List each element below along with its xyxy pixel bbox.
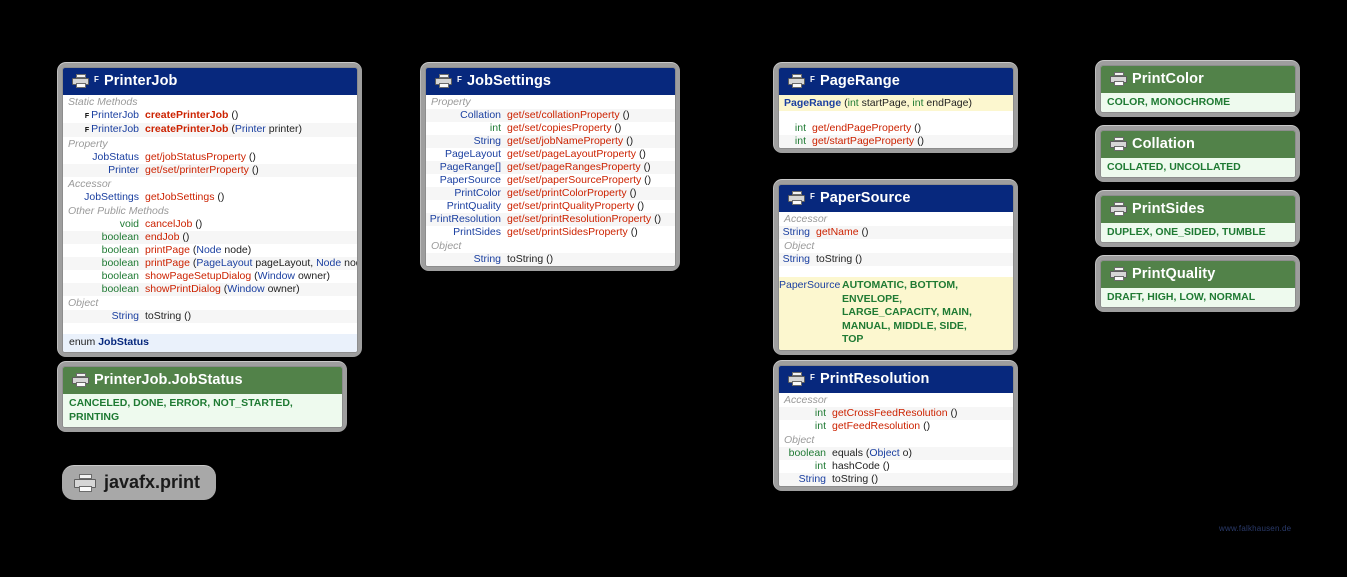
printer-icon <box>1110 137 1127 151</box>
enum-keyword: enum <box>69 336 95 348</box>
member-row[interactable]: StringtoString () <box>779 473 1013 486</box>
enum-box-collation[interactable]: Collation COLLATED, UNCOLLATED <box>1095 125 1300 182</box>
member-name: toString <box>507 253 543 265</box>
member-params: () <box>883 460 890 472</box>
class-header-job-settings: F JobSettings <box>426 68 675 95</box>
member-row[interactable]: void cancelJob () <box>63 218 357 231</box>
member-row[interactable]: boolean showPrintDialog (Window owner) <box>63 283 357 296</box>
constants-values: AUTOMATIC, BOTTOM, ENVELOPE, LARGE_CAPAC… <box>842 279 990 347</box>
member-name: get/set/printerProperty <box>145 164 249 176</box>
package-name: javafx.print <box>104 472 200 493</box>
class-header-printer-job: F PrinterJob <box>63 68 357 95</box>
return-type: boolean <box>789 447 826 460</box>
section-label: Property <box>426 95 675 109</box>
member-row[interactable]: booleanequals (Object o) <box>779 447 1013 460</box>
return-type: String <box>474 253 501 266</box>
member-params: () <box>914 122 921 134</box>
return-type: PrinterJob <box>91 123 139 136</box>
section-label: Object <box>779 239 1013 253</box>
return-type: String <box>474 135 501 148</box>
return-type: PageRange[] <box>440 161 501 174</box>
printer-icon <box>788 74 805 88</box>
final-marker: F <box>457 75 462 84</box>
enum-header: PrintColor <box>1101 66 1295 93</box>
member-name: toString <box>145 310 181 322</box>
member-row[interactable]: PaperSourceget/set/paperSourceProperty (… <box>426 174 675 187</box>
member-row[interactable]: intget/startPageProperty () <box>779 135 1013 148</box>
return-type: int <box>490 122 501 135</box>
class-name: PrinterJob <box>104 73 178 89</box>
member-params: () <box>546 253 553 265</box>
member-row[interactable]: FPrinterJob createPrinterJob () <box>63 109 357 123</box>
enum-name: PrintSides <box>1132 201 1205 217</box>
class-header-page-range: F PageRange <box>779 68 1013 95</box>
return-type: boolean <box>102 231 139 244</box>
return-type: String <box>783 253 810 266</box>
return-type: PrintResolution <box>430 213 501 226</box>
class-body: Accessor StringgetName () Object Stringt… <box>779 212 1013 350</box>
enum-name: Collation <box>1132 136 1195 152</box>
member-name: getCrossFeedResolution <box>832 407 948 419</box>
class-box-printer-job[interactable]: F PrinterJob Static Methods FPrinterJob … <box>57 62 362 357</box>
param-name: pageLayout, <box>255 257 316 269</box>
member-name: get/jobStatusProperty <box>145 151 246 163</box>
package-label[interactable]: javafx.print <box>62 465 216 500</box>
class-name: PageRange <box>820 73 900 89</box>
member-row[interactable]: intget/set/copiesProperty () <box>426 122 675 135</box>
member-name: equals <box>832 447 863 459</box>
section-label: Accessor <box>779 393 1013 407</box>
member-params: () <box>182 231 189 243</box>
section-label: Object <box>426 239 675 253</box>
param-name: node) <box>224 244 251 256</box>
return-type: PageLayout <box>445 148 501 161</box>
member-name: get/set/printQualityProperty <box>507 200 634 212</box>
member-name: getName <box>816 226 859 238</box>
member-params: () <box>644 161 651 173</box>
return-type: int <box>815 460 826 473</box>
return-type: String <box>112 310 139 323</box>
diagram-canvas: F PrinterJob Static Methods FPrinterJob … <box>0 0 1347 577</box>
member-row[interactable]: PrintSidesget/set/printSidesProperty () <box>426 226 675 239</box>
enum-box-print-sides[interactable]: PrintSides DUPLEX, ONE_SIDED, TUMBLE <box>1095 190 1300 247</box>
member-params: () <box>855 253 862 265</box>
class-box-print-resolution[interactable]: F PrintResolution Accessor intgetCrossFe… <box>773 360 1018 491</box>
member-name: get/set/printResolutionProperty <box>507 213 651 225</box>
member-params: () <box>923 420 930 432</box>
member-params: () <box>917 135 924 147</box>
member-row[interactable]: intgetCrossFeedResolution () <box>779 407 1013 420</box>
printer-icon <box>788 191 805 205</box>
member-name: hashCode <box>832 460 880 472</box>
enum-header: Collation <box>1101 131 1295 158</box>
member-row[interactable]: intget/endPageProperty () <box>779 122 1013 135</box>
spacer <box>779 266 1013 277</box>
class-name: PrintResolution <box>820 371 929 387</box>
member-name: get/set/printSidesProperty <box>507 226 628 238</box>
enum-constants: DUPLEX, ONE_SIDED, TUMBLE <box>1101 223 1295 242</box>
final-marker: F <box>85 110 89 123</box>
enum-header: PrintSides <box>1101 196 1295 223</box>
member-params: () <box>631 226 638 238</box>
param-type: Object <box>869 447 899 459</box>
member-params: () <box>626 135 633 147</box>
member-params: () <box>252 164 259 176</box>
member-row[interactable]: boolean printPage (PageLayout pageLayout… <box>63 257 357 270</box>
member-row[interactable]: Stringget/set/jobNameProperty () <box>426 135 675 148</box>
param-name: o) <box>903 447 912 459</box>
param-name: printer) <box>269 123 302 135</box>
member-name: get/set/printColorProperty <box>507 187 627 199</box>
enum-box-print-quality[interactable]: PrintQuality DRAFT, HIGH, LOW, NORMAL <box>1095 255 1300 312</box>
printer-icon <box>788 372 805 386</box>
return-type: Printer <box>108 164 139 177</box>
final-marker: F <box>94 75 99 84</box>
class-box-job-settings[interactable]: F JobSettings Property Collationget/set/… <box>420 62 680 271</box>
member-name: get/endPageProperty <box>812 122 911 134</box>
class-header-print-resolution: F PrintResolution <box>779 366 1013 393</box>
class-box-paper-source[interactable]: F PaperSource Accessor StringgetName () … <box>773 179 1018 355</box>
class-name: PaperSource <box>820 190 911 206</box>
return-type: String <box>799 473 826 486</box>
member-params: () <box>217 191 224 203</box>
member-name: cancelJob <box>145 218 192 230</box>
member-row[interactable]: JobStatus get/jobStatusProperty () <box>63 151 357 164</box>
member-row[interactable]: JobSettings getJobSettings () <box>63 191 357 204</box>
return-type: JobStatus <box>92 151 139 164</box>
return-type: boolean <box>102 257 139 270</box>
param-type: PageLayout <box>196 257 252 269</box>
member-name: endJob <box>145 231 179 243</box>
printer-icon <box>74 474 96 492</box>
enum-constants: CANCELED, DONE, ERROR, NOT_STARTED, PRIN… <box>63 394 342 427</box>
constructor-name: PageRange <box>784 97 841 109</box>
final-marker: F <box>810 192 815 201</box>
member-params: () <box>614 122 621 134</box>
param-name: owner) <box>298 270 330 282</box>
member-row[interactable]: StringgetName () <box>779 226 1013 239</box>
return-type: String <box>783 226 810 239</box>
member-name: get/set/pageRangesProperty <box>507 161 641 173</box>
return-type: PrintColor <box>454 187 501 200</box>
enum-box-print-color[interactable]: PrintColor COLOR, MONOCHROME <box>1095 60 1300 117</box>
class-body: Accessor intgetCrossFeedResolution () in… <box>779 393 1013 486</box>
member-row[interactable]: PrintQualityget/set/printQualityProperty… <box>426 200 675 213</box>
member-row[interactable]: StringtoString () <box>779 253 1013 266</box>
member-name: createPrinterJob <box>145 123 228 135</box>
class-header-paper-source: F PaperSource <box>779 185 1013 212</box>
member-row[interactable]: boolean printPage (Node node) <box>63 244 357 257</box>
spacer <box>779 111 1013 122</box>
printer-icon <box>1110 72 1127 86</box>
final-marker: F <box>85 124 89 137</box>
return-type: Collation <box>460 109 501 122</box>
member-row[interactable]: inthashCode () <box>779 460 1013 473</box>
printer-icon <box>72 373 89 387</box>
section-label: Static Methods <box>63 95 357 109</box>
member-row[interactable]: boolean showPageSetupDialog (Window owne… <box>63 270 357 283</box>
param-type: Window <box>227 283 264 295</box>
return-type: int <box>815 420 826 433</box>
member-name: toString <box>816 253 852 265</box>
member-name: get/set/jobNameProperty <box>507 135 623 147</box>
section-label: Object <box>779 433 1013 447</box>
member-row[interactable]: FPrinterJob createPrinterJob (Printer pr… <box>63 123 357 137</box>
class-name: JobSettings <box>467 73 551 89</box>
constants-type: PaperSource <box>779 279 840 291</box>
final-marker: F <box>810 75 815 84</box>
member-params: () <box>950 407 957 419</box>
member-row[interactable]: Printer get/set/printerProperty () <box>63 164 357 177</box>
member-name: showPageSetupDialog <box>145 270 251 282</box>
spacer <box>63 323 357 334</box>
enum-box-printer-job-job-status[interactable]: PrinterJob.JobStatus CANCELED, DONE, ERR… <box>57 361 347 432</box>
return-type: PrintQuality <box>447 200 501 213</box>
member-row[interactable]: StringtoString () <box>426 253 675 266</box>
member-params: () <box>184 310 191 322</box>
param-name: node) <box>344 257 358 269</box>
param-type: Node <box>196 244 221 256</box>
return-type: JobSettings <box>84 191 139 204</box>
printer-icon <box>435 74 452 88</box>
member-params: () <box>871 473 878 485</box>
member-params: () <box>639 148 646 160</box>
final-marker: F <box>810 373 815 382</box>
return-type: void <box>120 218 139 231</box>
return-type: boolean <box>102 244 139 257</box>
param-type: int <box>848 97 859 109</box>
member-params: () <box>195 218 202 230</box>
enum-name: PrintQuality <box>1132 266 1215 282</box>
member-params: () <box>654 213 661 225</box>
member-row[interactable]: PrintColorget/set/printColorProperty () <box>426 187 675 200</box>
member-name: getFeedResolution <box>832 420 920 432</box>
enum-name: PrinterJob.JobStatus <box>94 372 243 388</box>
member-name: get/startPageProperty <box>812 135 914 147</box>
member-row[interactable]: boolean endJob () <box>63 231 357 244</box>
member-row[interactable]: PageLayoutget/set/pageLayoutProperty () <box>426 148 675 161</box>
nested-enum-row[interactable]: enum JobStatus <box>63 334 357 352</box>
printer-icon <box>1110 267 1127 281</box>
section-label: Property <box>63 137 357 151</box>
printer-icon <box>72 74 89 88</box>
return-type: int <box>795 135 806 148</box>
param-type: Printer <box>235 123 266 135</box>
class-box-page-range[interactable]: F PageRange PageRange (int startPage, in… <box>773 62 1018 153</box>
param-name: startPage, <box>862 97 913 109</box>
member-name: get/set/paperSourceProperty <box>507 174 641 186</box>
param-name: owner) <box>268 283 300 295</box>
member-name: get/set/copiesProperty <box>507 122 611 134</box>
member-params: () <box>249 151 256 163</box>
watermark: www.falkhausen.de <box>1219 524 1291 533</box>
return-type: boolean <box>102 283 139 296</box>
class-body: PageRange (int startPage, int endPage) i… <box>779 95 1013 148</box>
return-type: int <box>795 122 806 135</box>
constants-row[interactable]: PaperSource AUTOMATIC, BOTTOM, ENVELOPE,… <box>779 277 1013 350</box>
constructor-row[interactable]: PageRange (int startPage, int endPage) <box>779 95 1013 111</box>
member-name: get/set/collationProperty <box>507 109 620 121</box>
return-type: PrintSides <box>453 226 501 239</box>
section-label: Other Public Methods <box>63 204 357 218</box>
enum-header: PrinterJob.JobStatus <box>63 367 342 394</box>
member-name: toString <box>832 473 868 485</box>
return-type: int <box>815 407 826 420</box>
member-params: () <box>637 200 644 212</box>
member-row[interactable]: PageRange[]get/set/pageRangesProperty () <box>426 161 675 174</box>
enum-constants: COLOR, MONOCHROME <box>1101 93 1295 112</box>
member-row[interactable]: PrintResolutionget/set/printResolutionPr… <box>426 213 675 226</box>
class-body: Property Collationget/set/collationPrope… <box>426 95 675 266</box>
return-type: PaperSource <box>440 174 501 187</box>
param-name: endPage) <box>926 97 972 109</box>
class-body: Static Methods FPrinterJob createPrinter… <box>63 95 357 352</box>
member-name: printPage <box>145 244 190 256</box>
enum-constants: DRAFT, HIGH, LOW, NORMAL <box>1101 288 1295 307</box>
member-row[interactable]: String toString () <box>63 310 357 323</box>
enum-header: PrintQuality <box>1101 261 1295 288</box>
member-row[interactable]: intgetFeedResolution () <box>779 420 1013 433</box>
enum-name: JobStatus <box>98 336 149 348</box>
section-label: Accessor <box>779 212 1013 226</box>
member-name: showPrintDialog <box>145 283 221 295</box>
member-name: createPrinterJob <box>145 109 228 121</box>
param-type: Window <box>258 270 295 282</box>
member-params: () <box>862 226 869 238</box>
member-params: () <box>644 174 651 186</box>
section-label: Object <box>63 296 357 310</box>
member-name: printPage <box>145 257 190 269</box>
member-name: get/set/pageLayoutProperty <box>507 148 636 160</box>
return-type: boolean <box>102 270 139 283</box>
member-params: () <box>623 109 630 121</box>
param-type: int <box>912 97 923 109</box>
member-params: () <box>630 187 637 199</box>
return-type: PrinterJob <box>91 109 139 122</box>
section-label: Accessor <box>63 177 357 191</box>
enum-constants: COLLATED, UNCOLLATED <box>1101 158 1295 177</box>
param-type: Node <box>316 257 341 269</box>
enum-name: PrintColor <box>1132 71 1204 87</box>
member-params: () <box>231 109 238 121</box>
printer-icon <box>1110 202 1127 216</box>
member-name: getJobSettings <box>145 191 214 203</box>
member-row[interactable]: Collationget/set/collationProperty () <box>426 109 675 122</box>
